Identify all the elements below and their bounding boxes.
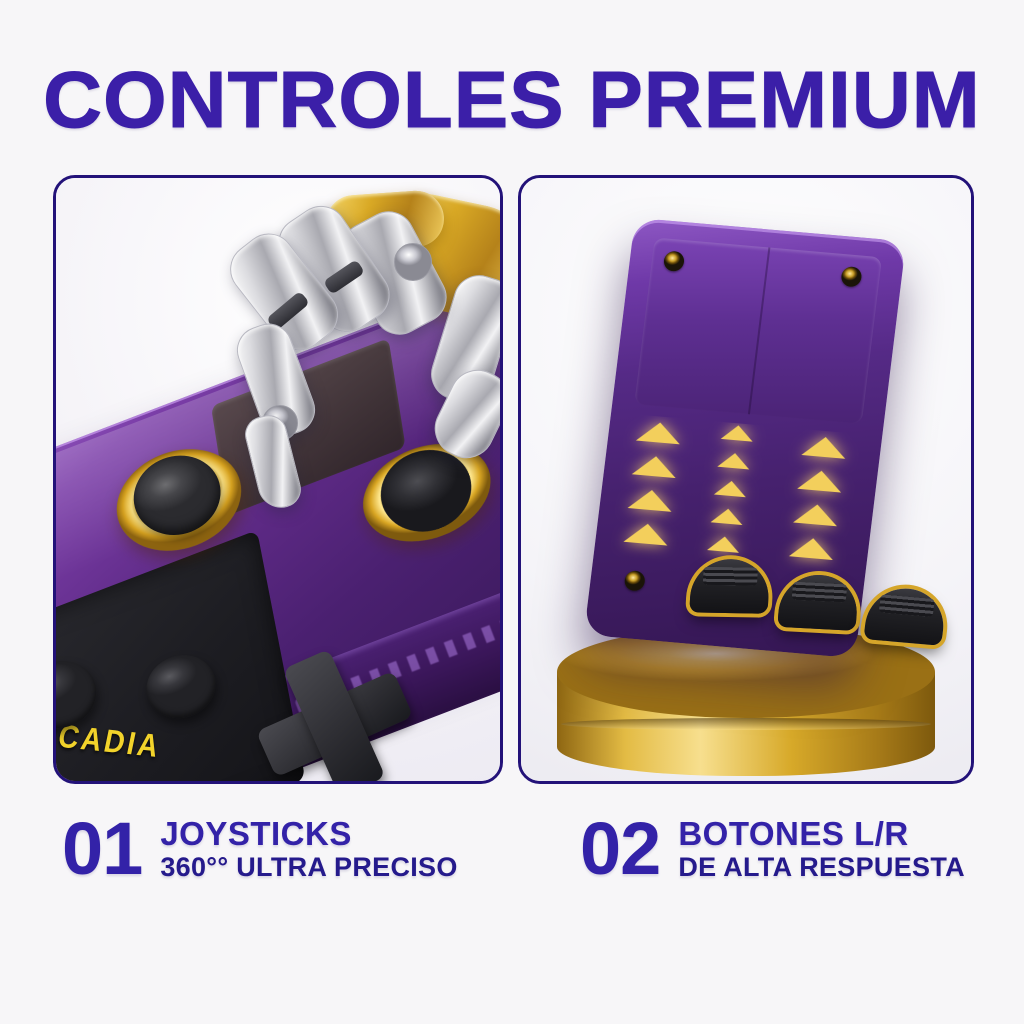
chevron-icon [623, 522, 669, 546]
feature-image-panel-triggers[interactable] [518, 175, 974, 784]
feature-subtitle: 360°° ULTRA PRECISO [160, 852, 457, 882]
chevron-icon [793, 503, 839, 527]
chevron-icon [636, 421, 682, 445]
page-title: CONTROLES PREMIUM [0, 60, 1024, 140]
feature-text-block: JOYSTICKS 360°° ULTRA PRECISO [160, 816, 457, 882]
feature-text-block: BOTONES L/R DE ALTA RESPUESTA [678, 816, 965, 882]
joystick-scene: ARCADIA [56, 178, 500, 781]
trigger-ribs [879, 594, 935, 617]
robotic-hand [206, 183, 503, 603]
chevron-icon [710, 507, 744, 525]
feature-number: 02 [580, 812, 660, 886]
chevron-icon [714, 480, 748, 498]
trigger-ribs [703, 567, 758, 586]
chevron-icon [801, 435, 847, 459]
feature-subtitle: DE ALTA RESPUESTA [678, 852, 965, 882]
chevron-icon [797, 469, 843, 493]
triggers-scene [521, 178, 971, 781]
chevron-icon [789, 536, 835, 560]
feature-caption-01: 01 JOYSTICKS 360°° ULTRA PRECISO [62, 812, 458, 886]
handheld-console-back [584, 218, 906, 659]
hand-knuckle-3 [394, 243, 432, 281]
feature-number: 01 [62, 812, 142, 886]
feature-image-panel-joysticks[interactable]: ARCADIA [53, 175, 503, 784]
chevron-icon [707, 535, 741, 553]
chevron-icon [721, 424, 755, 442]
chevron-icon [628, 488, 674, 512]
pedestal-seam [561, 718, 931, 730]
promo-page: CONTROLES PREMIUM ARCADIA [0, 0, 1024, 1024]
feature-caption-02: 02 BOTONES L/R DE ALTA RESPUESTA [580, 812, 965, 886]
chevron-icon [717, 452, 751, 470]
feature-title: BOTONES L/R [678, 816, 965, 852]
trigger-ribs [792, 582, 848, 603]
chevron-icon [632, 454, 678, 478]
feature-title: JOYSTICKS [160, 816, 457, 852]
